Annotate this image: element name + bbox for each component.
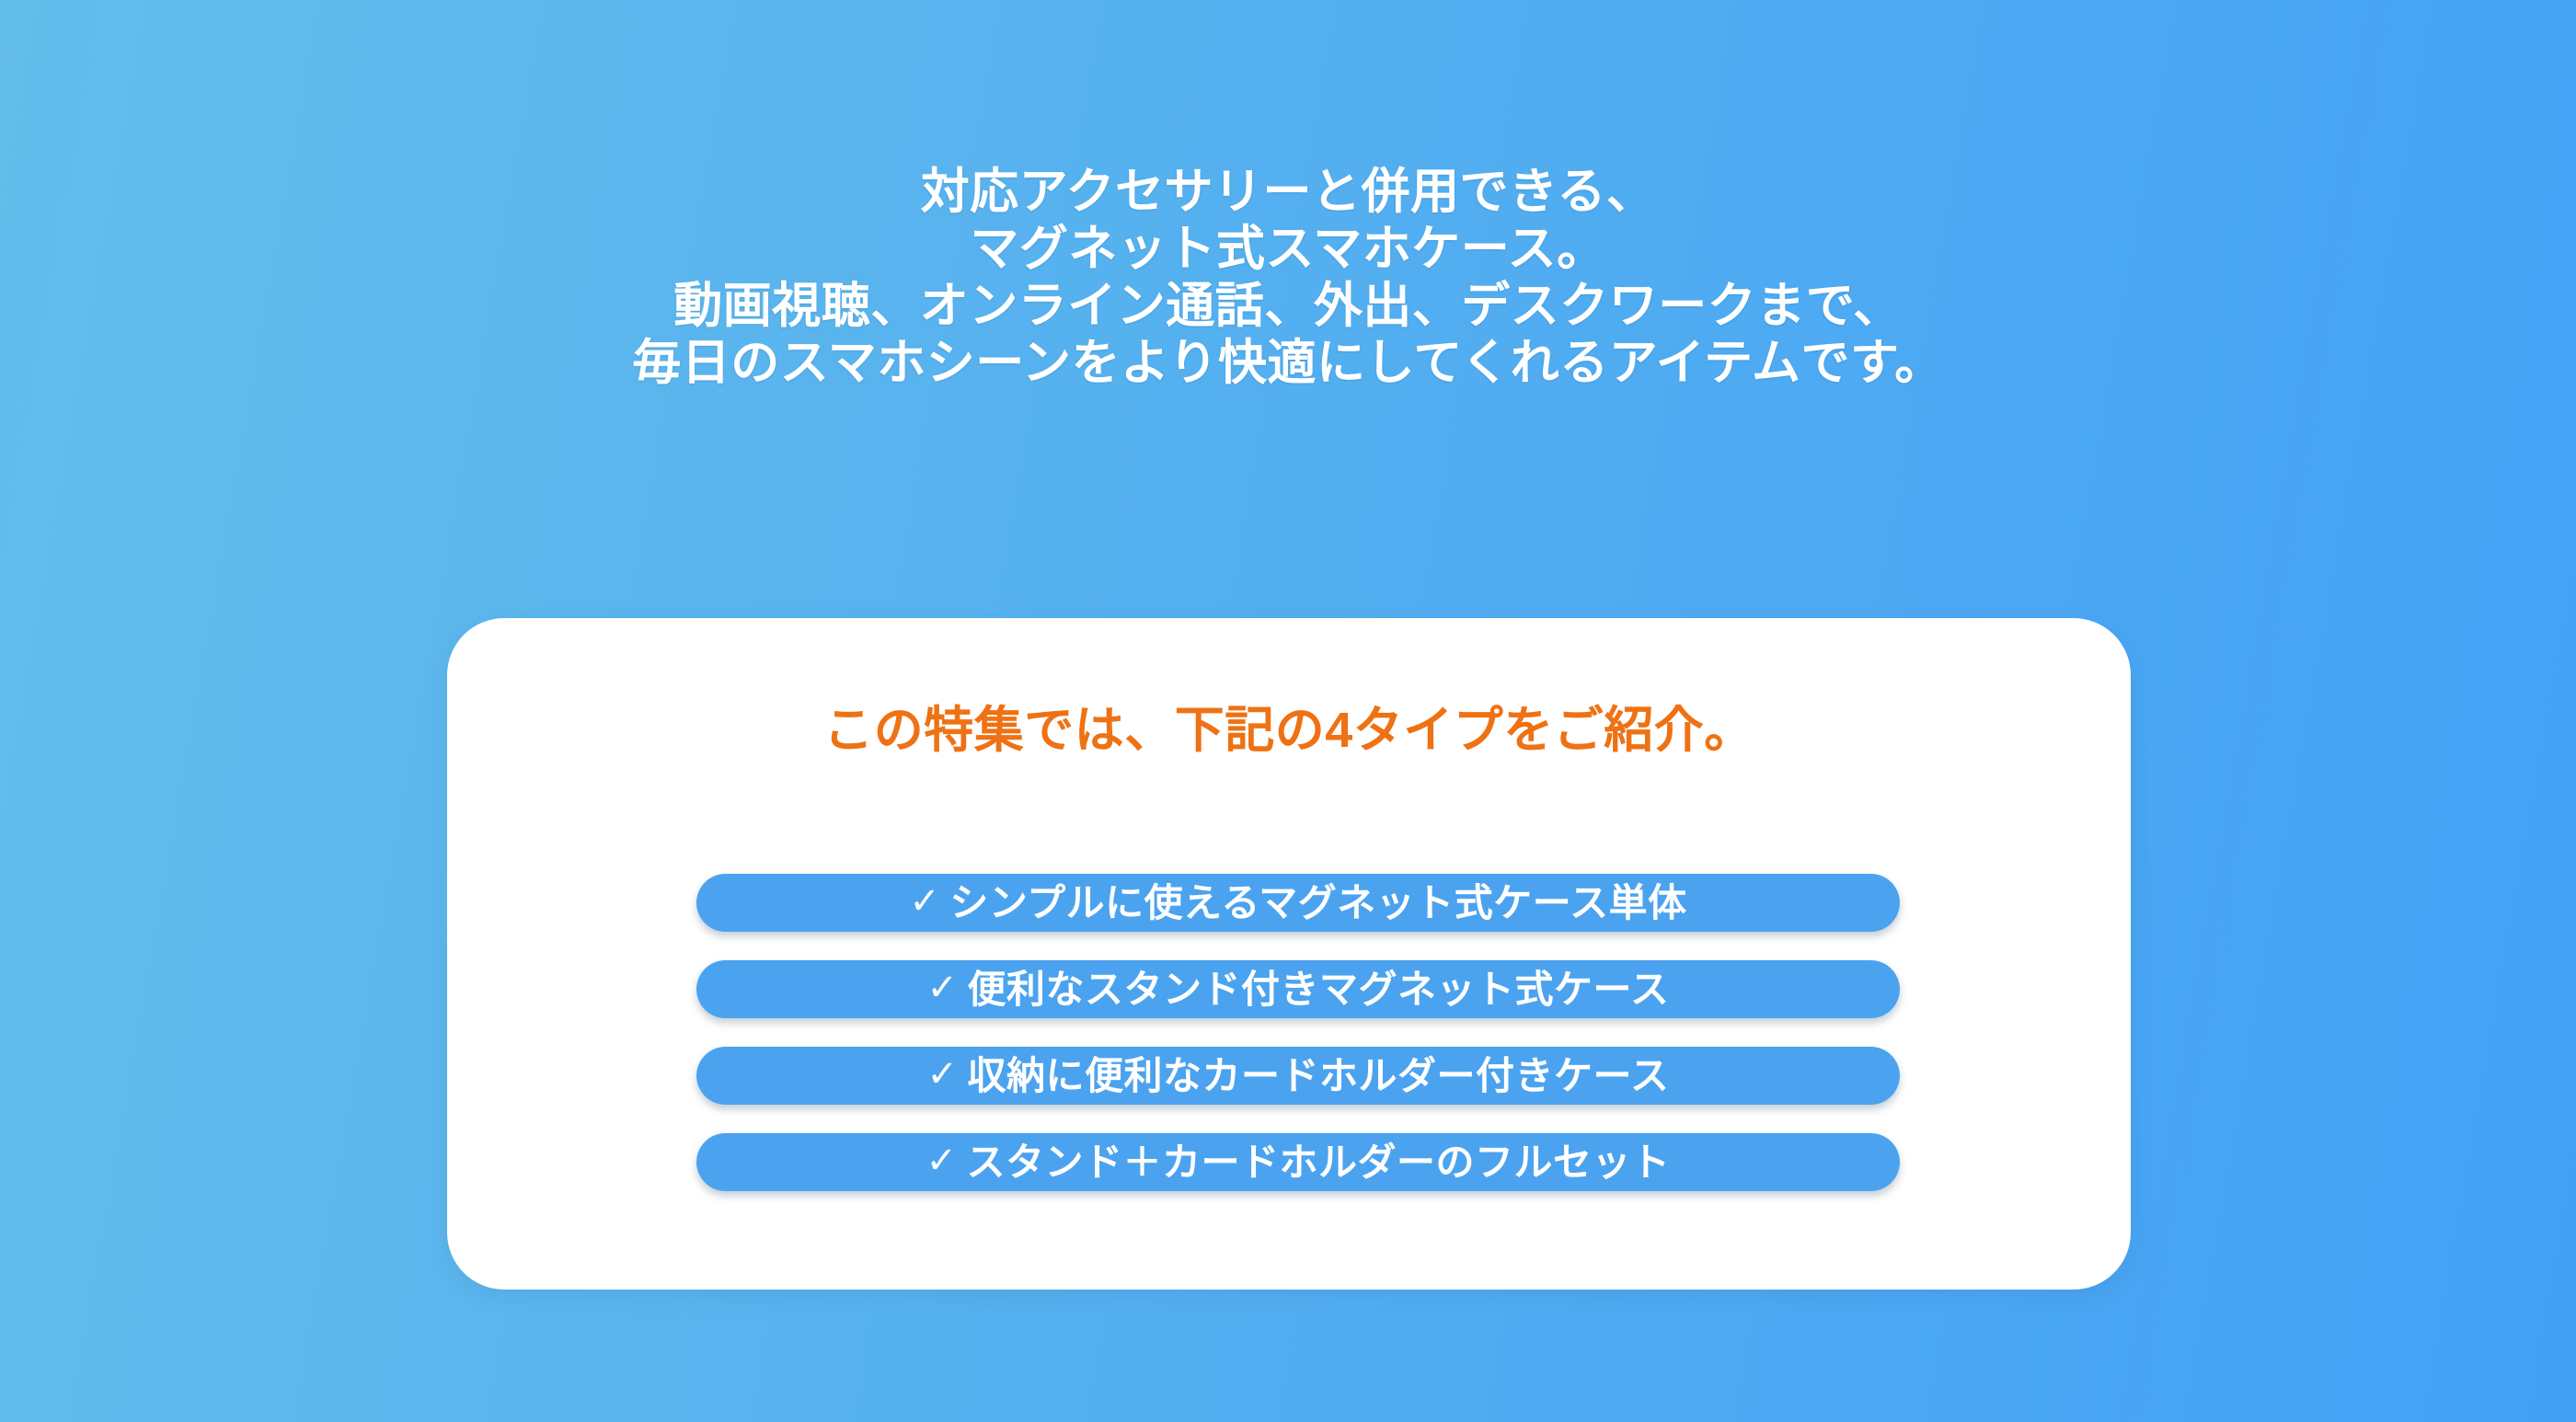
headline-line-2: マグネット式スマホケース。 [0, 221, 2576, 278]
card-heading: この特集では、下記の4タイプをご紹介。 [447, 703, 2131, 758]
headline-line-3: 動画視聴、オンライン通話、外出、デスクワークまで、 [0, 278, 2576, 335]
list-item[interactable]: ✓ 便利なスタンド付きマグネット式ケース [696, 960, 1900, 1018]
pill-label-3: ✓ 収納に便利なカードホルダー付きケース [927, 1047, 1670, 1105]
pill-label-4: ✓ スタンド＋カードホルダーのフルセット [926, 1133, 1670, 1191]
type-list: ✓ シンプルに使えるマグネット式ケース単体 ✓ 便利なスタンド付きマグネット式ケ… [696, 874, 1900, 1191]
headline-line-4: 毎日のスマホシーンをより快適にしてくれるアイテムです。 [0, 335, 2576, 392]
feature-card: この特集では、下記の4タイプをご紹介。 ✓ シンプルに使えるマグネット式ケース単… [447, 618, 2131, 1290]
pill-text: シンプルに使えるマグネット式ケース単体 [949, 874, 1686, 932]
list-item[interactable]: ✓ スタンド＋カードホルダーのフルセット [696, 1133, 1900, 1191]
list-item[interactable]: ✓ シンプルに使えるマグネット式ケース単体 [696, 874, 1900, 932]
pill-label-2: ✓ 便利なスタンド付きマグネット式ケース [927, 960, 1670, 1018]
check-icon: ✓ [909, 883, 940, 920]
check-icon: ✓ [927, 969, 959, 1006]
list-item[interactable]: ✓ 収納に便利なカードホルダー付きケース [696, 1047, 1900, 1105]
pill-label-1: ✓ シンプルに使えるマグネット式ケース単体 [909, 874, 1686, 932]
check-icon: ✓ [927, 1056, 959, 1093]
headline-block: 対応アクセサリーと併用できる、 マグネット式スマホケース。 動画視聴、オンライン… [0, 164, 2576, 392]
check-icon: ✓ [926, 1142, 957, 1179]
pill-text: 便利なスタンド付きマグネット式ケース [968, 960, 1670, 1018]
pill-text: 収納に便利なカードホルダー付きケース [968, 1047, 1670, 1105]
headline-line-1: 対応アクセサリーと併用できる、 [0, 164, 2576, 221]
promo-banner: 対応アクセサリーと併用できる、 マグネット式スマホケース。 動画視聴、オンライン… [0, 0, 2576, 1422]
pill-text: スタンド＋カードホルダーのフルセット [967, 1133, 1671, 1191]
